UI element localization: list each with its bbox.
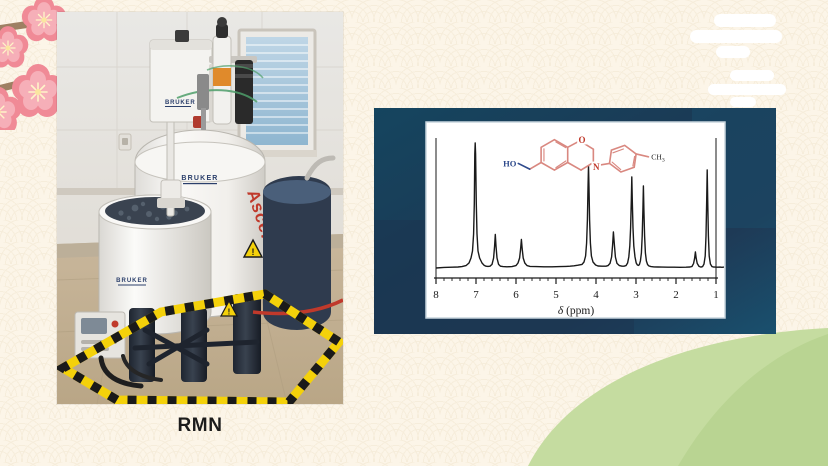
svg-text:!: ! — [252, 247, 255, 257]
svg-text:7: 7 — [473, 289, 479, 301]
nmr-instrument-photo: BRUKER Ascend ™ 400 ! — [57, 12, 343, 404]
svg-text:5: 5 — [553, 289, 559, 301]
svg-text:BRUKER: BRUKER — [165, 100, 195, 106]
nmr-spectrum-image: 8 7 6 5 4 3 2 1 δ (ppm) — [374, 108, 776, 334]
x-axis-label: δ (ppm) — [558, 305, 595, 317]
svg-text:6: 6 — [513, 289, 519, 301]
photo-caption: RMN — [57, 415, 343, 437]
oxygen-label: O — [578, 135, 585, 145]
nitrogen-label: N — [593, 162, 600, 172]
svg-text:2: 2 — [673, 289, 679, 301]
svg-text:!: ! — [228, 308, 231, 317]
svg-text:1: 1 — [713, 289, 719, 301]
svg-text:BRUKER: BRUKER — [116, 278, 148, 284]
svg-text:3: 3 — [633, 289, 639, 301]
hydroxyl-label: HO — [503, 158, 517, 168]
slide-canvas: BRUKER Ascend ™ 400 ! — [0, 0, 828, 466]
svg-text:BRUKER: BRUKER — [181, 175, 218, 182]
svg-text:8: 8 — [433, 289, 439, 301]
svg-text:4: 4 — [593, 289, 599, 301]
